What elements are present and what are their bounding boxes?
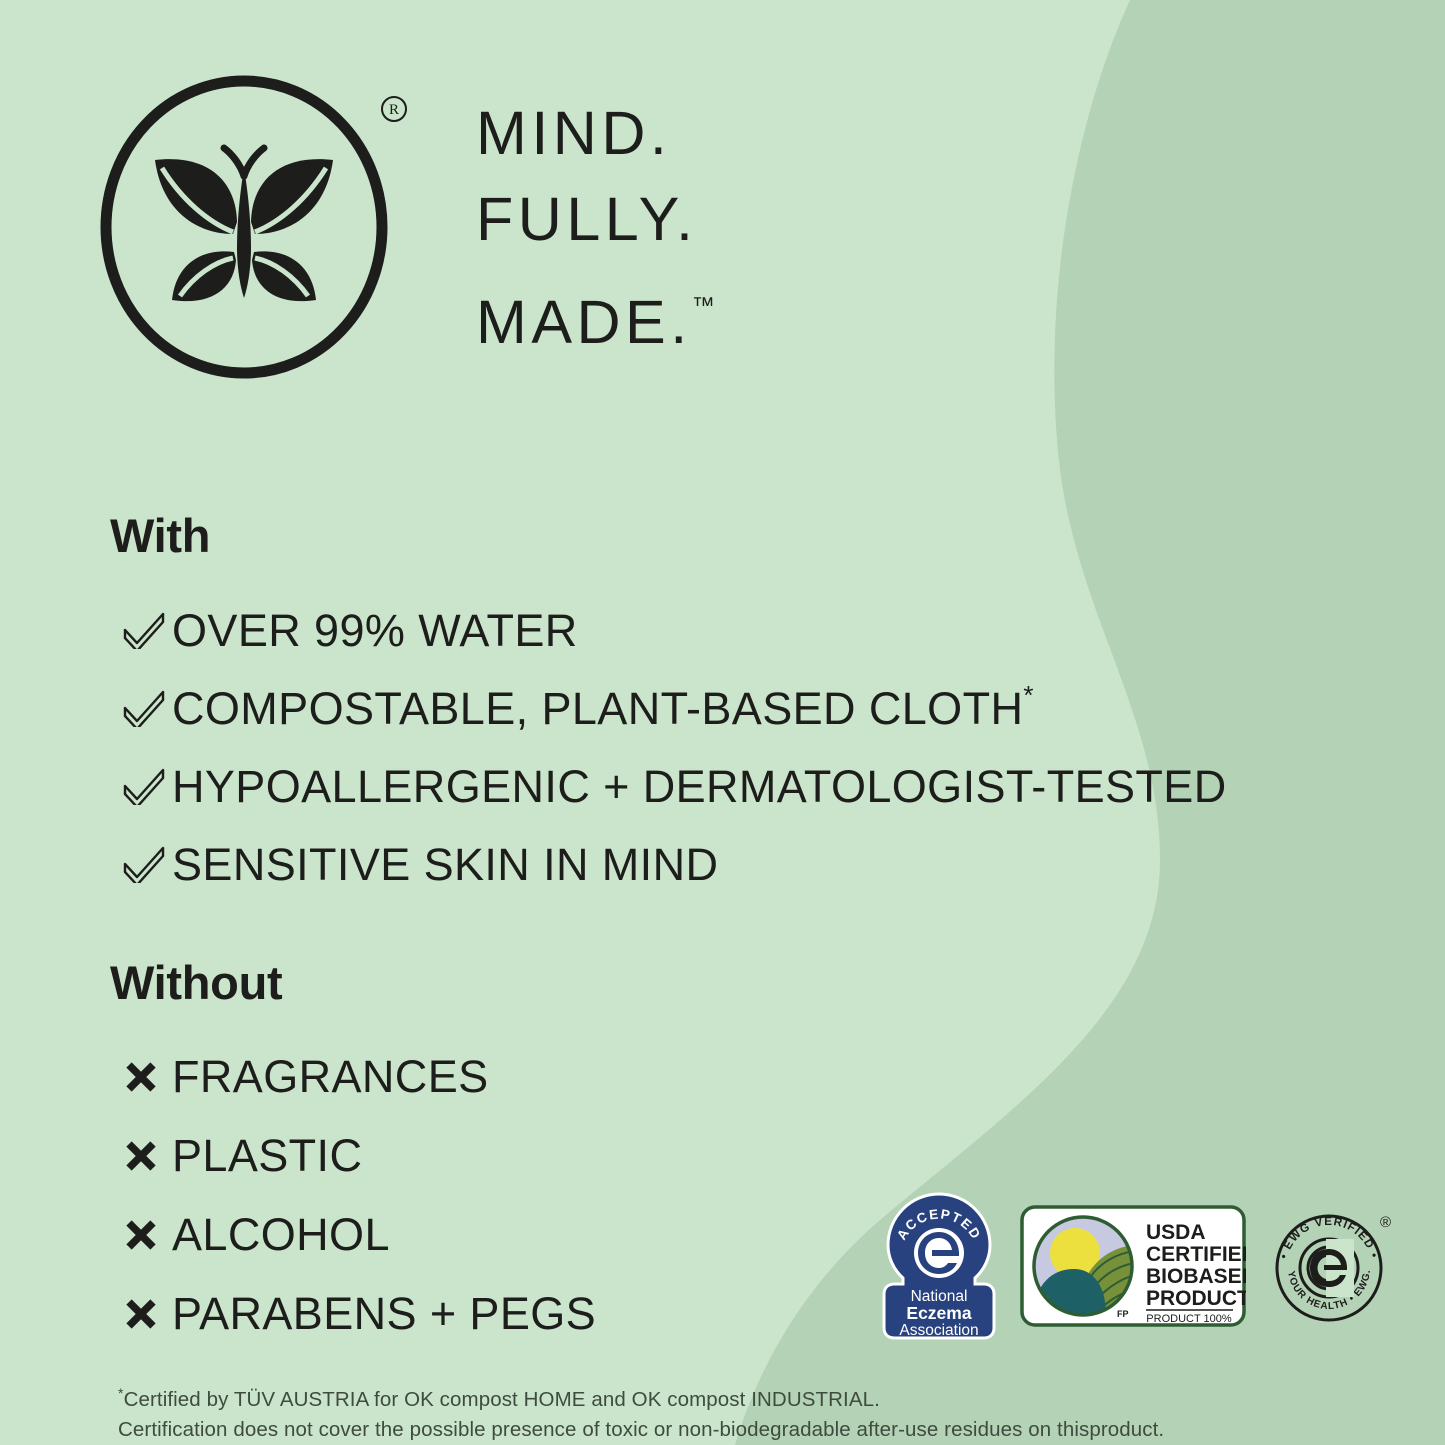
cross-icon [110, 1139, 172, 1173]
product-claims-panel: R MIND. FULLY. MADE.™ With OVER 99% WATE… [0, 0, 1445, 1445]
list-item-label: PLASTIC [172, 1130, 362, 1182]
cross-icon [110, 1297, 172, 1331]
brand-tagline: MIND. FULLY. MADE.™ [476, 90, 856, 365]
brand-line-3: MADE.™ [476, 262, 856, 365]
list-item: PARABENS + PEGS [110, 1274, 596, 1353]
list-item-label: OVER 99% WATER [172, 602, 578, 657]
with-list: OVER 99% WATER COMPOSTABLE, PLANT-BASED … [110, 590, 1227, 902]
brand-line-3-text: MADE. [476, 288, 692, 356]
list-item-label: ALCOHOL [172, 1209, 390, 1261]
list-item: COMPOSTABLE, PLANT-BASED CLOTH* [110, 668, 1227, 746]
footnote-line-2: Certification does not cover the possibl… [118, 1415, 1298, 1445]
svg-text:PRODUCT: PRODUCT [1146, 1287, 1246, 1310]
registered-trademark-icon: R [379, 94, 409, 124]
usda-certified-biobased-product-seal: FP USDA CERTIFIED BIOBASED PRODUCT PRODU… [1020, 1205, 1246, 1327]
brand-lockup: R MIND. FULLY. MADE.™ [96, 72, 856, 402]
list-item: OVER 99% WATER [110, 590, 1227, 668]
certification-badges: ACCEPTED National Eczema Association [880, 1192, 1394, 1340]
list-item-label: PARABENS + PEGS [172, 1288, 596, 1340]
check-outline-icon [110, 687, 172, 727]
without-section-title: Without [110, 955, 596, 1011]
svg-text:BIOBASED: BIOBASED [1146, 1265, 1246, 1288]
national-eczema-association-accepted-seal: ACCEPTED National Eczema Association [880, 1192, 998, 1340]
svg-text:R: R [389, 102, 399, 118]
svg-text:Eczema: Eczema [906, 1303, 971, 1323]
list-item-label: HYPOALLERGENIC + DERMATOLOGIST-TESTED [172, 758, 1227, 813]
svg-text:PRODUCT 100%: PRODUCT 100% [1146, 1313, 1232, 1325]
trademark-symbol: ™ [692, 292, 715, 318]
check-outline-icon [110, 843, 172, 883]
brand-line-2: FULLY. [476, 176, 856, 262]
ewg-verified-seal: • EWG VERIFIED • FOR YOUR HEALTH • EWG.O… [1268, 1203, 1394, 1329]
list-item: ALCOHOL [110, 1195, 596, 1274]
list-item: FRAGRANCES [110, 1037, 596, 1116]
footnote: *Certified by TÜV AUSTRIA for OK compost… [118, 1378, 1298, 1445]
cross-icon [110, 1060, 172, 1094]
list-item-label: FRAGRANCES [172, 1051, 489, 1103]
list-item: PLASTIC [110, 1116, 596, 1195]
footnote-line-1: *Certified by TÜV AUSTRIA for OK compost… [118, 1378, 1298, 1415]
cross-icon [110, 1218, 172, 1252]
brand-line-1: MIND. [476, 90, 856, 176]
svg-text:CERTIFIED: CERTIFIED [1146, 1243, 1246, 1266]
with-section-title: With [110, 508, 1227, 564]
butterfly-in-circle-logo [96, 72, 396, 382]
with-section: With OVER 99% WATER COMPOSTABLE, PLANT-B… [110, 508, 1227, 902]
list-item-label: COMPOSTABLE, PLANT-BASED CLOTH* [172, 680, 1034, 735]
svg-text:Association: Association [899, 1322, 978, 1339]
list-item: SENSITIVE SKIN IN MIND [110, 824, 1227, 902]
svg-text:FP: FP [1117, 1309, 1129, 1319]
list-item-label: SENSITIVE SKIN IN MIND [172, 836, 718, 891]
svg-text:®: ® [1380, 1214, 1391, 1231]
without-list: FRAGRANCES PLASTIC ALCOHOL PARABENS + PE… [110, 1037, 596, 1353]
svg-text:USDA: USDA [1146, 1221, 1206, 1244]
check-outline-icon [110, 609, 172, 649]
without-section: Without FRAGRANCES PLASTIC ALCOHOL [110, 955, 596, 1353]
list-item: HYPOALLERGENIC + DERMATOLOGIST-TESTED [110, 746, 1227, 824]
check-outline-icon [110, 765, 172, 805]
